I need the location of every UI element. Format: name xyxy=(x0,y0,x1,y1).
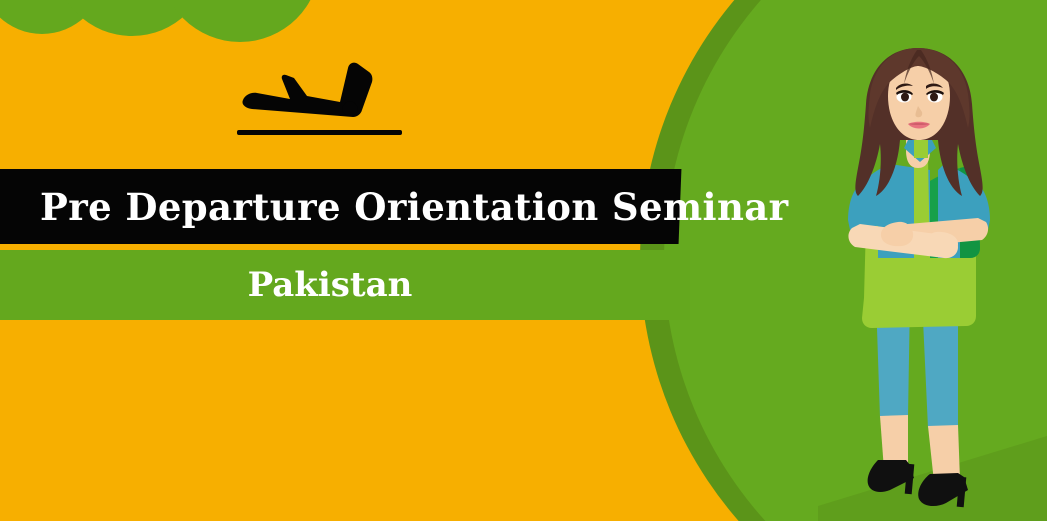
airplane-takeoff-icon xyxy=(232,52,412,142)
page-title: Pre Departure Orientation Seminar xyxy=(40,178,660,236)
plane-graphic xyxy=(232,52,412,142)
woman-figure-svg xyxy=(818,36,1047,521)
subtitle-country: Pakistan xyxy=(0,258,660,312)
runway-line-icon xyxy=(237,130,402,135)
woman-illustration-icon xyxy=(818,36,1047,521)
banner-canvas: Pre Departure Orientation Seminar Pakist… xyxy=(0,0,1047,521)
